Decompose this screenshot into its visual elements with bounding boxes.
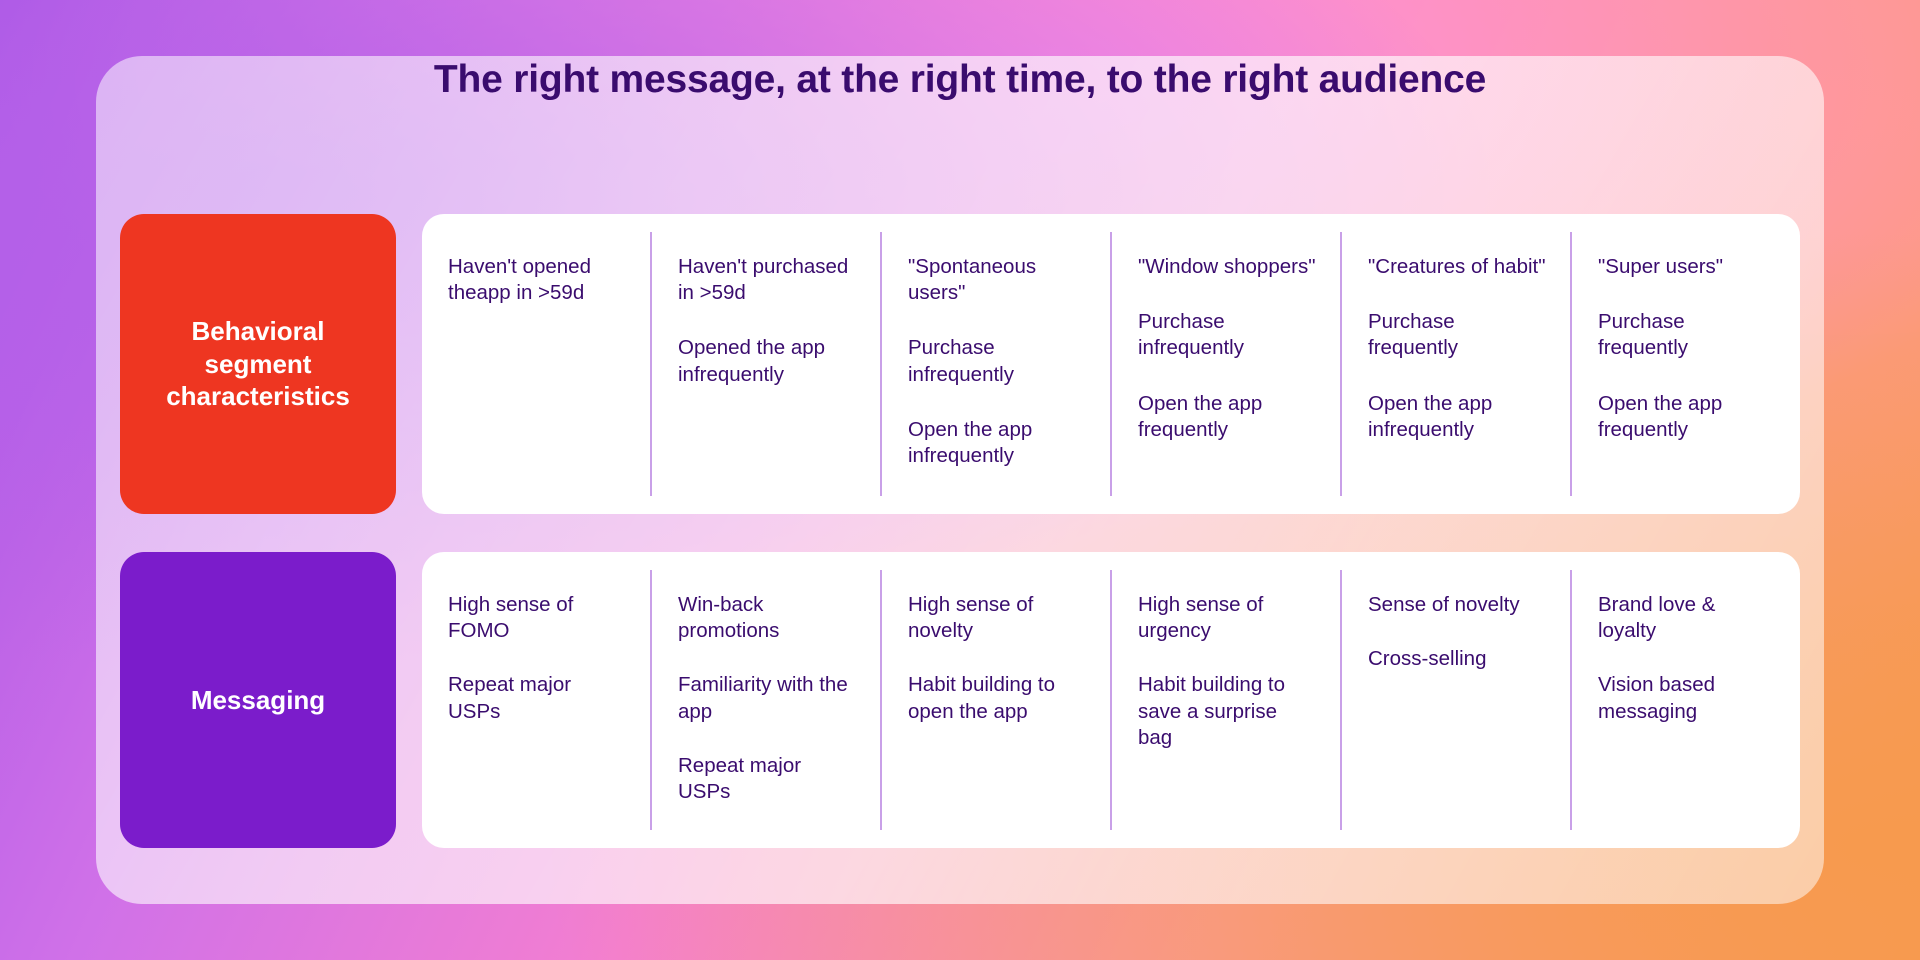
behavioral-c4-line3: Open the app frequently — [1138, 391, 1316, 443]
behavioral-c6-line2: Purchase frequently — [1598, 309, 1776, 361]
behavioral-c5-line2: Purchase frequently — [1368, 309, 1546, 361]
messaging-c4-line2: Habit building to save a surprise bag — [1138, 672, 1316, 751]
row-behavioral-segment: Behavioral segment characteristics Haven… — [120, 214, 1800, 514]
messaging-c2-line1: Win-back promotions — [678, 592, 856, 644]
behavioral-c6-line3: Open the app frequently — [1598, 391, 1776, 443]
messaging-c1-line2: Repeat major USPs — [448, 672, 626, 724]
messaging-columns-card: High sense of FOMO Repeat major USPs Win… — [422, 552, 1800, 848]
behavioral-c3-line1: "Spontaneous users" — [908, 254, 1086, 306]
behavioral-c5-line3: Open the app infrequently — [1368, 391, 1546, 443]
messaging-c6-line2: Vision based messaging — [1598, 672, 1776, 724]
messaging-c2-line2: Familiarity with the app — [678, 672, 856, 724]
messaging-c5-line1: Sense of novelty — [1368, 592, 1546, 618]
row-label-behavioral: Behavioral segment characteristics — [120, 214, 396, 514]
behavioral-column-6: "Super users" Purchase frequently Open t… — [1570, 232, 1800, 496]
messaging-c1-line1: High sense of FOMO — [448, 592, 626, 644]
behavioral-c2-line2: Opened the app infrequently — [678, 335, 856, 387]
behavioral-c2-line1: Haven't purchased in >59d — [678, 254, 856, 306]
page-title: The right message, at the right time, to… — [0, 58, 1920, 102]
row-messaging: Messaging High sense of FOMO Repeat majo… — [120, 552, 1800, 848]
behavioral-column-2: Haven't purchased in >59d Opened the app… — [650, 232, 880, 496]
messaging-c2-line3: Repeat major USPs — [678, 753, 856, 805]
behavioral-c5-line1: "Creatures of habit" — [1368, 254, 1546, 280]
messaging-column-3: High sense of novelty Habit building to … — [880, 570, 1110, 830]
messaging-column-6: Brand love & loyalty Vision based messag… — [1570, 570, 1800, 830]
messaging-c3-line1: High sense of novelty — [908, 592, 1086, 644]
behavioral-c1-line1: Haven't opened theapp in >59d — [448, 254, 626, 306]
messaging-column-5: Sense of novelty Cross-selling — [1340, 570, 1570, 830]
behavioral-column-4: "Window shoppers" Purchase infrequently … — [1110, 232, 1340, 496]
messaging-column-4: High sense of urgency Habit building to … — [1110, 570, 1340, 830]
messaging-c6-line1: Brand love & loyalty — [1598, 592, 1776, 644]
messaging-c3-line2: Habit building to open the app — [908, 672, 1086, 724]
behavioral-columns-card: Haven't opened theapp in >59d Haven't pu… — [422, 214, 1800, 514]
behavioral-column-5: "Creatures of habit" Purchase frequently… — [1340, 232, 1570, 496]
messaging-c5-line2: Cross-selling — [1368, 646, 1546, 672]
messaging-column-2: Win-back promotions Familiarity with the… — [650, 570, 880, 830]
behavioral-c6-line1: "Super users" — [1598, 254, 1776, 280]
infographic-canvas: The right message, at the right time, to… — [0, 0, 1920, 960]
behavioral-column-1: Haven't opened theapp in >59d — [422, 232, 650, 496]
messaging-column-1: High sense of FOMO Repeat major USPs — [422, 570, 650, 830]
behavioral-c3-line2: Purchase infrequently — [908, 335, 1086, 387]
behavioral-c3-line3: Open the app infrequently — [908, 417, 1086, 469]
behavioral-c4-line2: Purchase infrequently — [1138, 309, 1316, 361]
behavioral-column-3: "Spontaneous users" Purchase infrequentl… — [880, 232, 1110, 496]
messaging-c4-line1: High sense of urgency — [1138, 592, 1316, 644]
behavioral-c4-line1: "Window shoppers" — [1138, 254, 1316, 280]
row-label-messaging: Messaging — [120, 552, 396, 848]
